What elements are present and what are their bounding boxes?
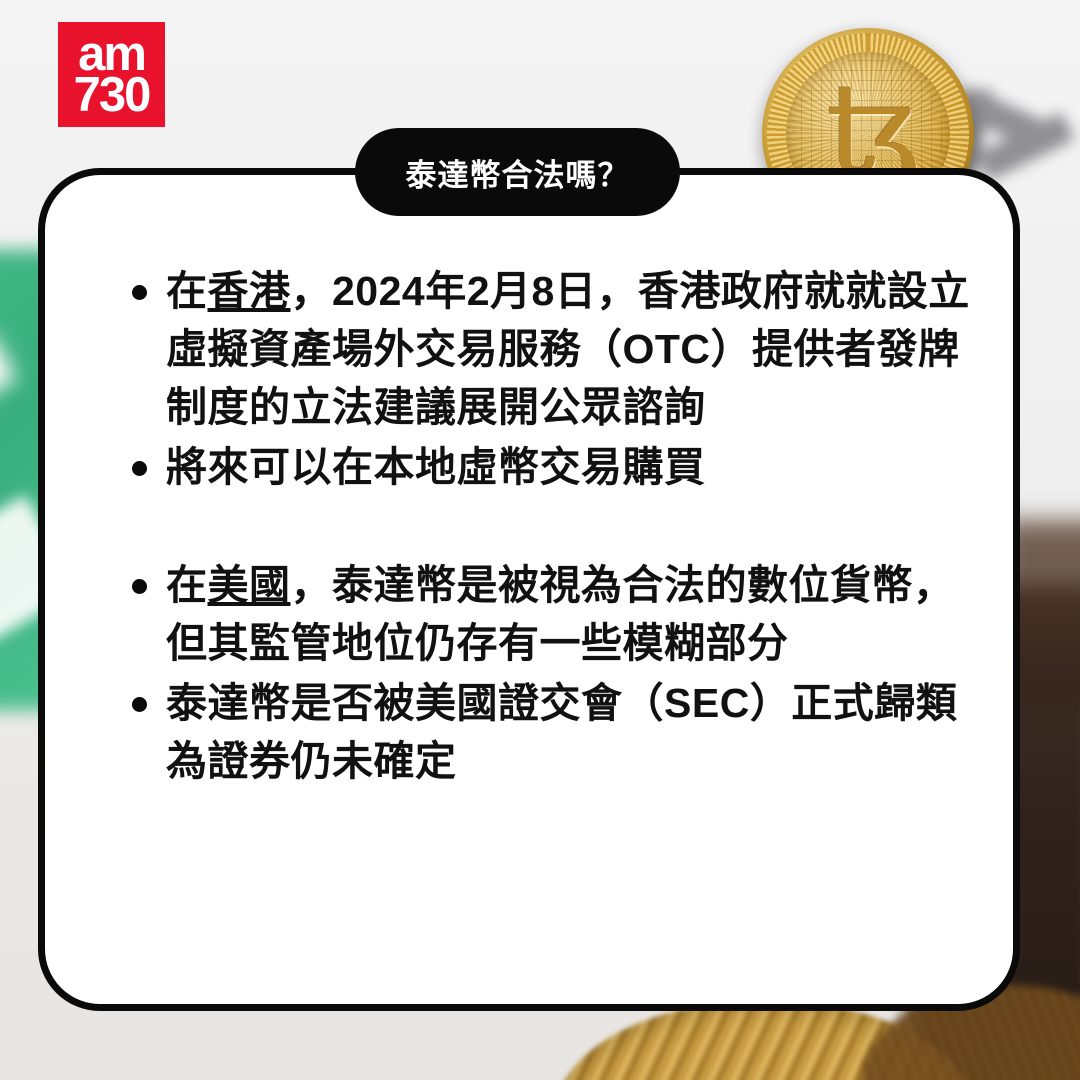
bullet-prefix: 在 [166,562,208,608]
list-item: 泰達幣是否被美國證交會（SEC）正式歸類為證券仍未確定 [118,674,988,790]
list-item: 在美國，泰達幣是被視為合法的數位貨幣，但其監管地位仍存有一些模糊部分 [118,556,988,672]
title-pill: 泰達幣合法嗎？ [355,128,680,216]
bullet-group-united-states: 在美國，泰達幣是被視為合法的數位貨幣，但其監管地位仍存有一些模糊部分 泰達幣是否… [118,556,988,790]
list-item: 在香港，2024年2月8日，香港政府就就設立虛擬資產場外交易服務（OTC）提供者… [118,262,988,436]
infographic-card-stage: am 730 ꜩ 泰達幣合法嗎？ 在香港，2024年2月8日，香港政府就就設立虛… [0,0,1080,1080]
bullet-text: 將來可以在本地虛幣交易購買 [166,444,706,490]
bullet-group-hong-kong: 在香港，2024年2月8日，香港政府就就設立虛擬資產場外交易服務（OTC）提供者… [118,262,988,496]
logo-line-730: 730 [74,75,150,115]
am730-logo: am 730 [58,22,165,127]
bullet-content: 在香港，2024年2月8日，香港政府就就設立虛擬資產場外交易服務（OTC）提供者… [118,262,988,792]
bullet-underlined-term: 美國 [208,562,291,608]
page-title: 泰達幣合法嗎？ [406,150,630,195]
list-item: 將來可以在本地虛幣交易購買 [118,438,988,496]
bullet-text: 泰達幣是否被美國證交會（SEC）正式歸類為證券仍未確定 [166,680,957,784]
bullet-underlined-term: 香港 [208,268,291,314]
bullet-prefix: 在 [166,268,208,314]
